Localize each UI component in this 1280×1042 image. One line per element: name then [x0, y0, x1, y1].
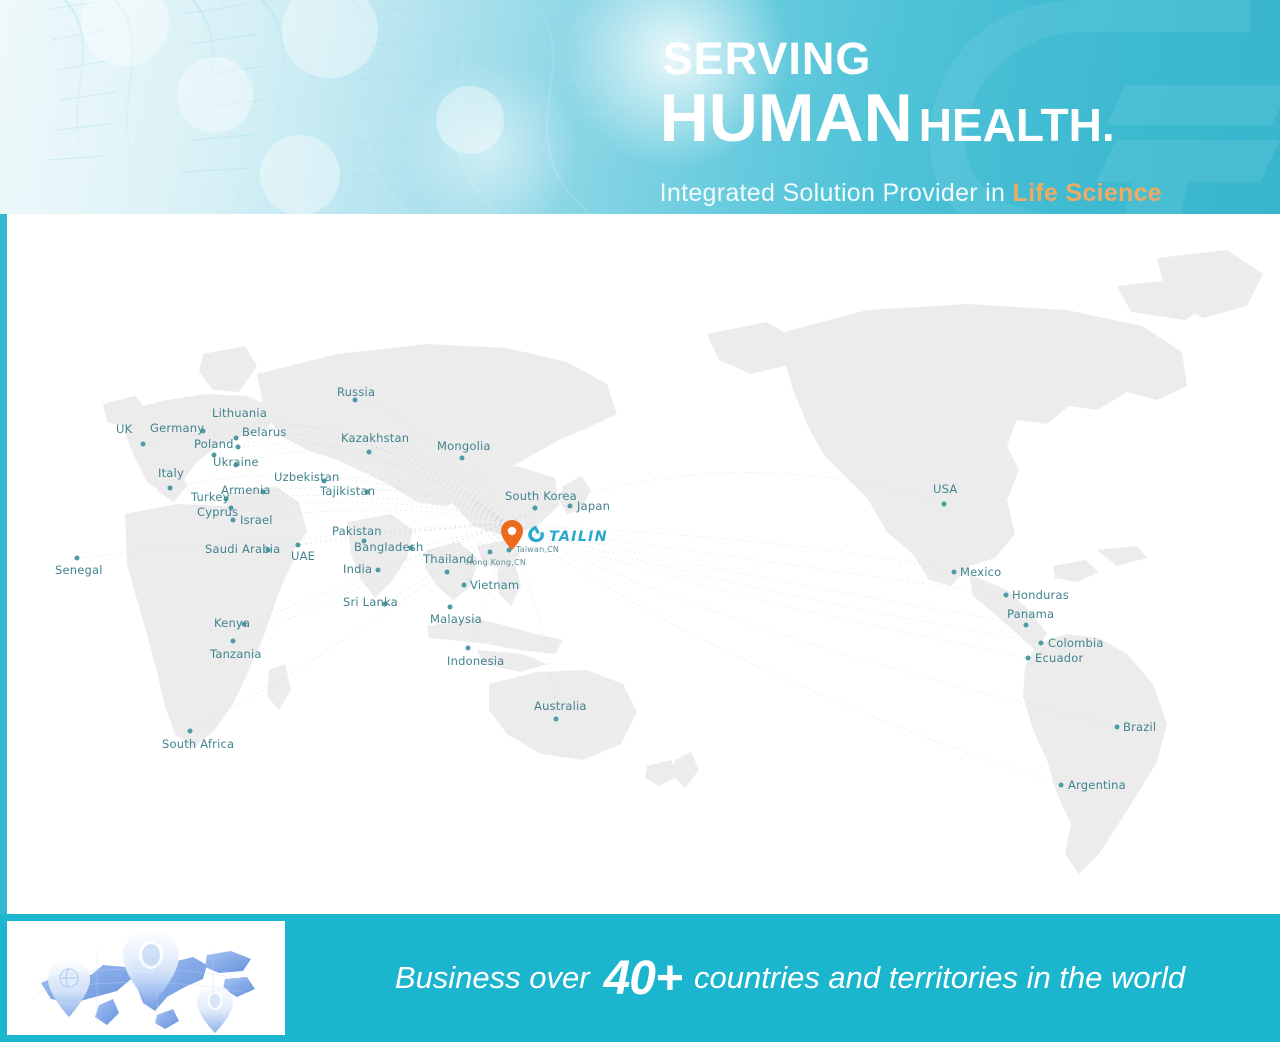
map-node-honduras[interactable]	[1004, 593, 1009, 598]
map-label-hong-kong-cn: Hong Kong,CN	[466, 558, 526, 567]
header-tagline: Integrated Solution Provider in Life Sci…	[660, 179, 1162, 208]
map-node-lithuania[interactable]	[234, 436, 239, 441]
map-label-ecuador: Ecuador	[1035, 651, 1083, 665]
map-label-brazil: Brazil	[1123, 720, 1156, 734]
map-label-south-korea: South Korea	[505, 489, 577, 503]
map-node-australia[interactable]	[554, 717, 559, 722]
map-label-tanzania: Tanzania	[210, 647, 262, 661]
map-label-kazakhstan: Kazakhstan	[341, 431, 409, 445]
map-label-sri-lanka: Sri Lanka	[343, 595, 398, 609]
map-label-israel: Israel	[240, 513, 273, 527]
map-label-saudi-arabia: Saudi Arabia	[205, 542, 280, 556]
map-label-japan: Japan	[577, 499, 610, 513]
header-word-human: HUMAN	[660, 80, 913, 156]
tagline-highlight-text: Life Science	[1013, 179, 1163, 207]
tagline-plain-text: Integrated Solution Provider in	[660, 179, 1013, 207]
map-node-argentina[interactable]	[1059, 783, 1064, 788]
map-node-italy[interactable]	[168, 486, 173, 491]
tailin-logo: TAILIN	[527, 524, 654, 546]
map-label-belarus: Belarus	[242, 425, 287, 439]
map-node-senegal[interactable]	[75, 556, 80, 561]
map-label-south-africa: South Africa	[162, 737, 234, 751]
map-label-colombia: Colombia	[1048, 636, 1104, 650]
map-node-indonesia[interactable]	[466, 646, 471, 651]
dna-helix-pattern-icon	[0, 0, 640, 214]
map-node-south-africa[interactable]	[188, 729, 193, 734]
map-label-germany: Germany	[150, 421, 204, 435]
world-map-panel: TAILIN UKGermanyLithuaniaBelarusPolandUk…	[0, 214, 1280, 914]
map-node-thailand[interactable]	[445, 570, 450, 575]
map-label-senegal: Senegal	[55, 563, 103, 577]
world-map-graphic	[7, 214, 1280, 914]
map-label-poland: Poland	[194, 437, 234, 451]
page-footer: Business over 40+ countries and territor…	[0, 914, 1280, 1042]
map-node-panama[interactable]	[1024, 623, 1029, 628]
map-node-india[interactable]	[376, 568, 381, 573]
map-node-uk[interactable]	[141, 442, 146, 447]
world-map-pins-logo-icon	[7, 921, 285, 1035]
map-label-russia: Russia	[337, 385, 375, 399]
map-node-uae[interactable]	[296, 543, 301, 548]
map-node-tanzania[interactable]	[231, 639, 236, 644]
page-header: SERVING HUMANHEALTH. Integrated Solution…	[0, 0, 1280, 214]
map-node-kazakhstan[interactable]	[367, 450, 372, 455]
map-node-israel[interactable]	[231, 518, 236, 523]
map-node-south-korea[interactable]	[533, 506, 538, 511]
map-node-belarus[interactable]	[236, 445, 241, 450]
svg-text:TAILIN: TAILIN	[549, 529, 608, 545]
map-node-japan[interactable]	[568, 504, 573, 509]
map-node-usa[interactable]	[942, 502, 947, 507]
map-label-bangladesh: Bangladesh	[354, 540, 423, 554]
footer-text-after: countries and territories in the world	[694, 960, 1185, 996]
header-line-serving: SERVING	[660, 34, 1162, 84]
map-label-vietnam: Vietnam	[470, 578, 519, 592]
map-label-panama: Panama	[1007, 607, 1054, 621]
header-word-health: HEALTH.	[919, 99, 1115, 151]
footer-country-count: 40+	[604, 951, 682, 1006]
map-label-lithuania: Lithuania	[212, 406, 267, 420]
map-label-pakistan: Pakistan	[332, 524, 382, 538]
map-label-mexico: Mexico	[960, 565, 1001, 579]
map-label-uzbekistan: Uzbekistan	[274, 470, 340, 484]
map-node-mexico[interactable]	[952, 570, 957, 575]
map-label-turkey: Turkey	[191, 490, 230, 504]
map-node-colombia[interactable]	[1039, 641, 1044, 646]
map-label-ukraine: Ukraine	[213, 455, 259, 469]
header-line-human-health: HUMANHEALTH.	[660, 80, 1162, 175]
map-label-italy: Italy	[158, 466, 184, 480]
map-node-vietnam[interactable]	[462, 583, 467, 588]
map-label-usa: USA	[933, 482, 957, 496]
map-label-honduras: Honduras	[1012, 588, 1069, 602]
map-label-uk: UK	[116, 422, 132, 436]
map-label-australia: Australia	[534, 699, 587, 713]
map-node-malaysia[interactable]	[448, 605, 453, 610]
map-label-argentina: Argentina	[1068, 778, 1126, 792]
map-node-hong-kong-cn[interactable]	[488, 550, 493, 555]
map-label-kenya: Kenya	[214, 616, 250, 630]
map-node-brazil[interactable]	[1115, 725, 1120, 730]
map-label-uae: UAE	[291, 549, 315, 563]
footer-tagline: Business over 40+ countries and territor…	[300, 914, 1280, 1042]
map-label-tajikistan: Tajikistan	[320, 484, 375, 498]
map-node-taiwan-cn[interactable]	[507, 548, 512, 553]
map-node-mongolia[interactable]	[460, 456, 465, 461]
map-label-indonesia: Indonesia	[447, 654, 504, 668]
map-label-mongolia: Mongolia	[437, 439, 491, 453]
map-label-india: India	[343, 562, 372, 576]
map-label-taiwan-cn: Taiwan,CN	[516, 545, 559, 554]
footer-text-before: Business over	[395, 960, 590, 996]
map-node-ecuador[interactable]	[1026, 656, 1031, 661]
map-label-malaysia: Malaysia	[430, 612, 482, 626]
header-text-block: SERVING HUMANHEALTH. Integrated Solution…	[660, 34, 1162, 208]
